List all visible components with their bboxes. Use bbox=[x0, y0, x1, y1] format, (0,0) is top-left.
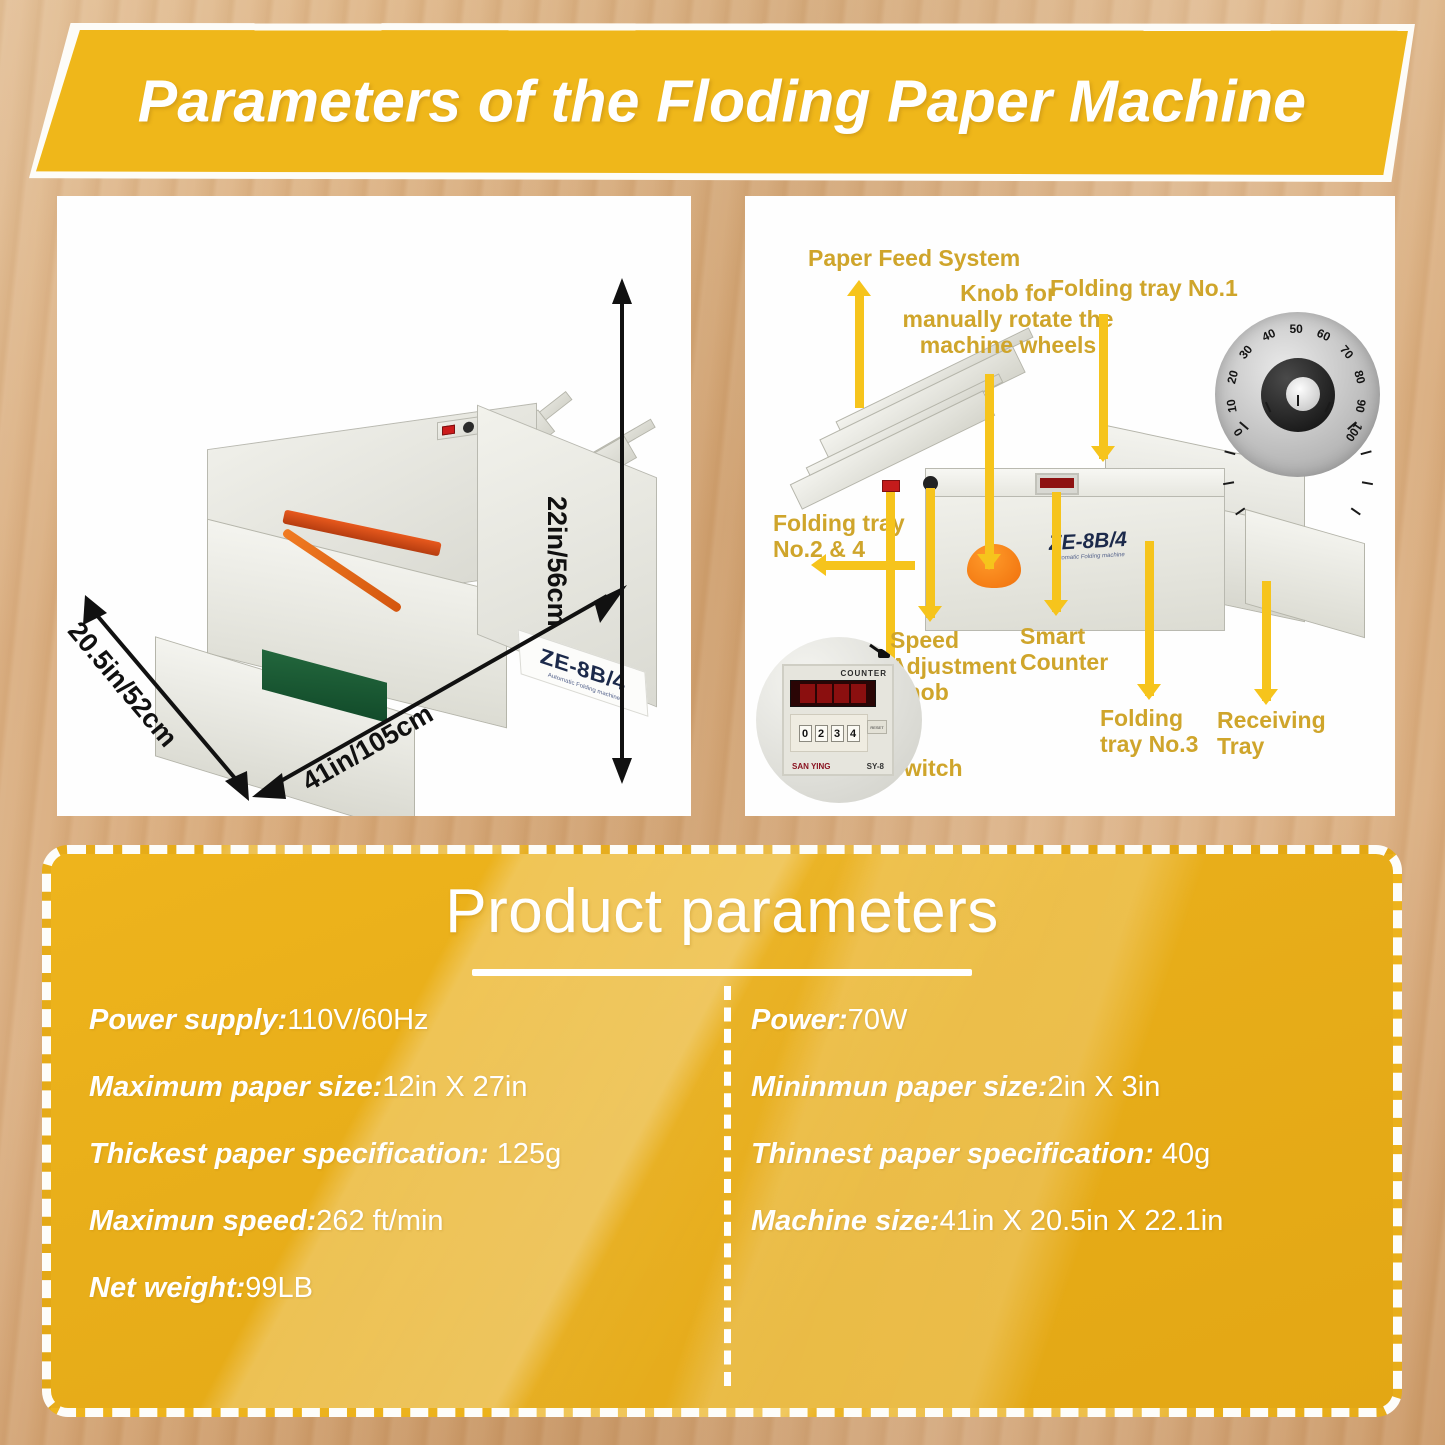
param-value: 110V/60Hz bbox=[287, 1004, 428, 1036]
speed-dial-inset[interactable]: 0102030405060708090100 bbox=[1215, 312, 1380, 477]
param-value: 262 ft/min bbox=[316, 1205, 443, 1237]
param-label: Thickest paper specification: bbox=[89, 1138, 497, 1170]
param-value: 125g bbox=[497, 1138, 562, 1170]
callout-arrow-manual-knob bbox=[985, 374, 994, 569]
counter-brand: SAN YING bbox=[792, 762, 831, 771]
param-row: Power:70W bbox=[751, 1004, 1371, 1037]
param-label: Mininmun paper size: bbox=[751, 1071, 1047, 1103]
reset-button[interactable]: RESET bbox=[867, 720, 887, 734]
dial-number: 30 bbox=[1236, 342, 1255, 361]
dial-number: 70 bbox=[1337, 342, 1356, 361]
param-label: Machine size: bbox=[751, 1205, 940, 1237]
callout-arrowhead-speed-knob bbox=[918, 606, 942, 622]
param-row: Power supply:110V/60Hz bbox=[89, 1004, 719, 1037]
counter-digit[interactable]: 2 bbox=[815, 725, 828, 742]
callout-arrowhead-smart-counter bbox=[1044, 600, 1068, 616]
counter-digit[interactable]: 4 bbox=[847, 725, 860, 742]
dial-number: 80 bbox=[1351, 369, 1368, 386]
param-label: Power: bbox=[751, 1004, 848, 1036]
title-banner: Parameters of the Floding Paper Machine bbox=[36, 30, 1408, 175]
params-column-divider bbox=[724, 986, 731, 1386]
param-value: 41in X 20.5in X 22.1in bbox=[940, 1205, 1224, 1237]
counter-title: COUNTER bbox=[840, 669, 887, 678]
power-switch-icon bbox=[442, 424, 455, 435]
callout-paper-feed-system: Paper Feed System bbox=[808, 246, 1020, 272]
counter-model: SY-8 bbox=[867, 762, 884, 771]
callout-arrow-paper-feed bbox=[855, 296, 864, 408]
product-photo-left: ZE-8B/4 Automatic Folding machine 22in/5… bbox=[57, 196, 691, 816]
param-label: Maximum paper size: bbox=[89, 1071, 382, 1103]
counter-digit[interactable]: 0 bbox=[799, 725, 812, 742]
product-parameters-box: Product parameters Power supply:110V/60H… bbox=[42, 845, 1402, 1417]
param-value: 12in X 27in bbox=[382, 1071, 527, 1103]
dial-number: 50 bbox=[1290, 322, 1303, 336]
dial-number: 90 bbox=[1353, 398, 1369, 414]
param-value: 70W bbox=[848, 1004, 908, 1036]
callout-arrow-speed-knob bbox=[926, 488, 935, 618]
param-value: 40g bbox=[1162, 1138, 1210, 1170]
params-title-underline bbox=[472, 969, 972, 976]
param-row: Mininmun paper size:2in X 3in bbox=[751, 1071, 1371, 1104]
callout-arrow-receiving-tray bbox=[1262, 581, 1271, 701]
params-title: Product parameters bbox=[51, 876, 1393, 947]
callout-arrowhead-receiving-tray bbox=[1254, 689, 1278, 705]
callout-receiving-tray: Receiving Tray bbox=[1217, 708, 1326, 760]
callout-smart-counter: Smart Counter bbox=[1020, 624, 1108, 676]
param-label: Thinnest paper specification: bbox=[751, 1138, 1162, 1170]
counter-led-display bbox=[790, 680, 876, 707]
param-row: Machine size:41in X 20.5in X 22.1in bbox=[751, 1205, 1371, 1238]
callout-arrow-smart-counter bbox=[1052, 492, 1061, 612]
counter-inset: COUNTER 0234 RESET SAN YING SY-8 bbox=[756, 637, 922, 803]
dimension-arrow-depth bbox=[67, 591, 267, 806]
param-label: Power supply: bbox=[89, 1004, 287, 1036]
counter-digit[interactable]: 3 bbox=[831, 725, 844, 742]
callout-arrow-tray1 bbox=[1099, 314, 1108, 459]
param-label: Net weight: bbox=[89, 1272, 245, 1304]
callout-folding-tray-no1: Folding tray No.1 bbox=[1050, 276, 1238, 302]
dial-number: 10 bbox=[1223, 398, 1239, 414]
dial-number: 20 bbox=[1224, 369, 1241, 386]
counter-device[interactable]: COUNTER 0234 RESET SAN YING SY-8 bbox=[782, 664, 894, 776]
callout-folding-tray-no2-4: Folding tray No.2 & 4 bbox=[773, 511, 905, 563]
param-row: Maximun speed:262 ft/min bbox=[89, 1205, 719, 1238]
param-row: Maximum paper size:12in X 27in bbox=[89, 1071, 719, 1104]
param-row: Thinnest paper specification: 40g bbox=[751, 1138, 1371, 1171]
speed-knob-icon bbox=[463, 421, 474, 434]
callout-arrowhead-tray3 bbox=[1137, 684, 1161, 700]
power-switch[interactable] bbox=[882, 480, 900, 492]
callout-folding-tray-no3: Folding tray No.3 bbox=[1100, 706, 1198, 758]
page-title: Parameters of the Floding Paper Machine bbox=[36, 67, 1408, 135]
params-column-right: Power:70WMininmun paper size:2in X 3inTh… bbox=[751, 1004, 1371, 1272]
callout-arrowhead-tray1 bbox=[1091, 446, 1115, 462]
param-row: Net weight:99LB bbox=[89, 1272, 719, 1305]
plug-icon bbox=[868, 643, 892, 661]
dial-number: 100 bbox=[1342, 420, 1365, 444]
callout-arrowhead-manual-knob bbox=[977, 554, 1001, 570]
model-plate-right: ZE-8B/4 Automatic Folding machine bbox=[1022, 523, 1154, 568]
param-value: 2in X 3in bbox=[1047, 1071, 1160, 1103]
callout-arrowhead-paper-feed bbox=[847, 280, 871, 296]
params-column-left: Power supply:110V/60HzMaximum paper size… bbox=[89, 1004, 719, 1339]
dial-number: 60 bbox=[1315, 326, 1333, 344]
callout-arrow-tray3 bbox=[1145, 541, 1154, 696]
param-row: Thickest paper specification: 125g bbox=[89, 1138, 719, 1171]
dial-tick bbox=[1297, 395, 1299, 471]
counter-thumbwheels[interactable]: 0234 bbox=[790, 714, 868, 752]
param-value: 99LB bbox=[245, 1272, 313, 1304]
param-label: Maximun speed: bbox=[89, 1205, 316, 1237]
dial-number: 40 bbox=[1259, 326, 1277, 344]
